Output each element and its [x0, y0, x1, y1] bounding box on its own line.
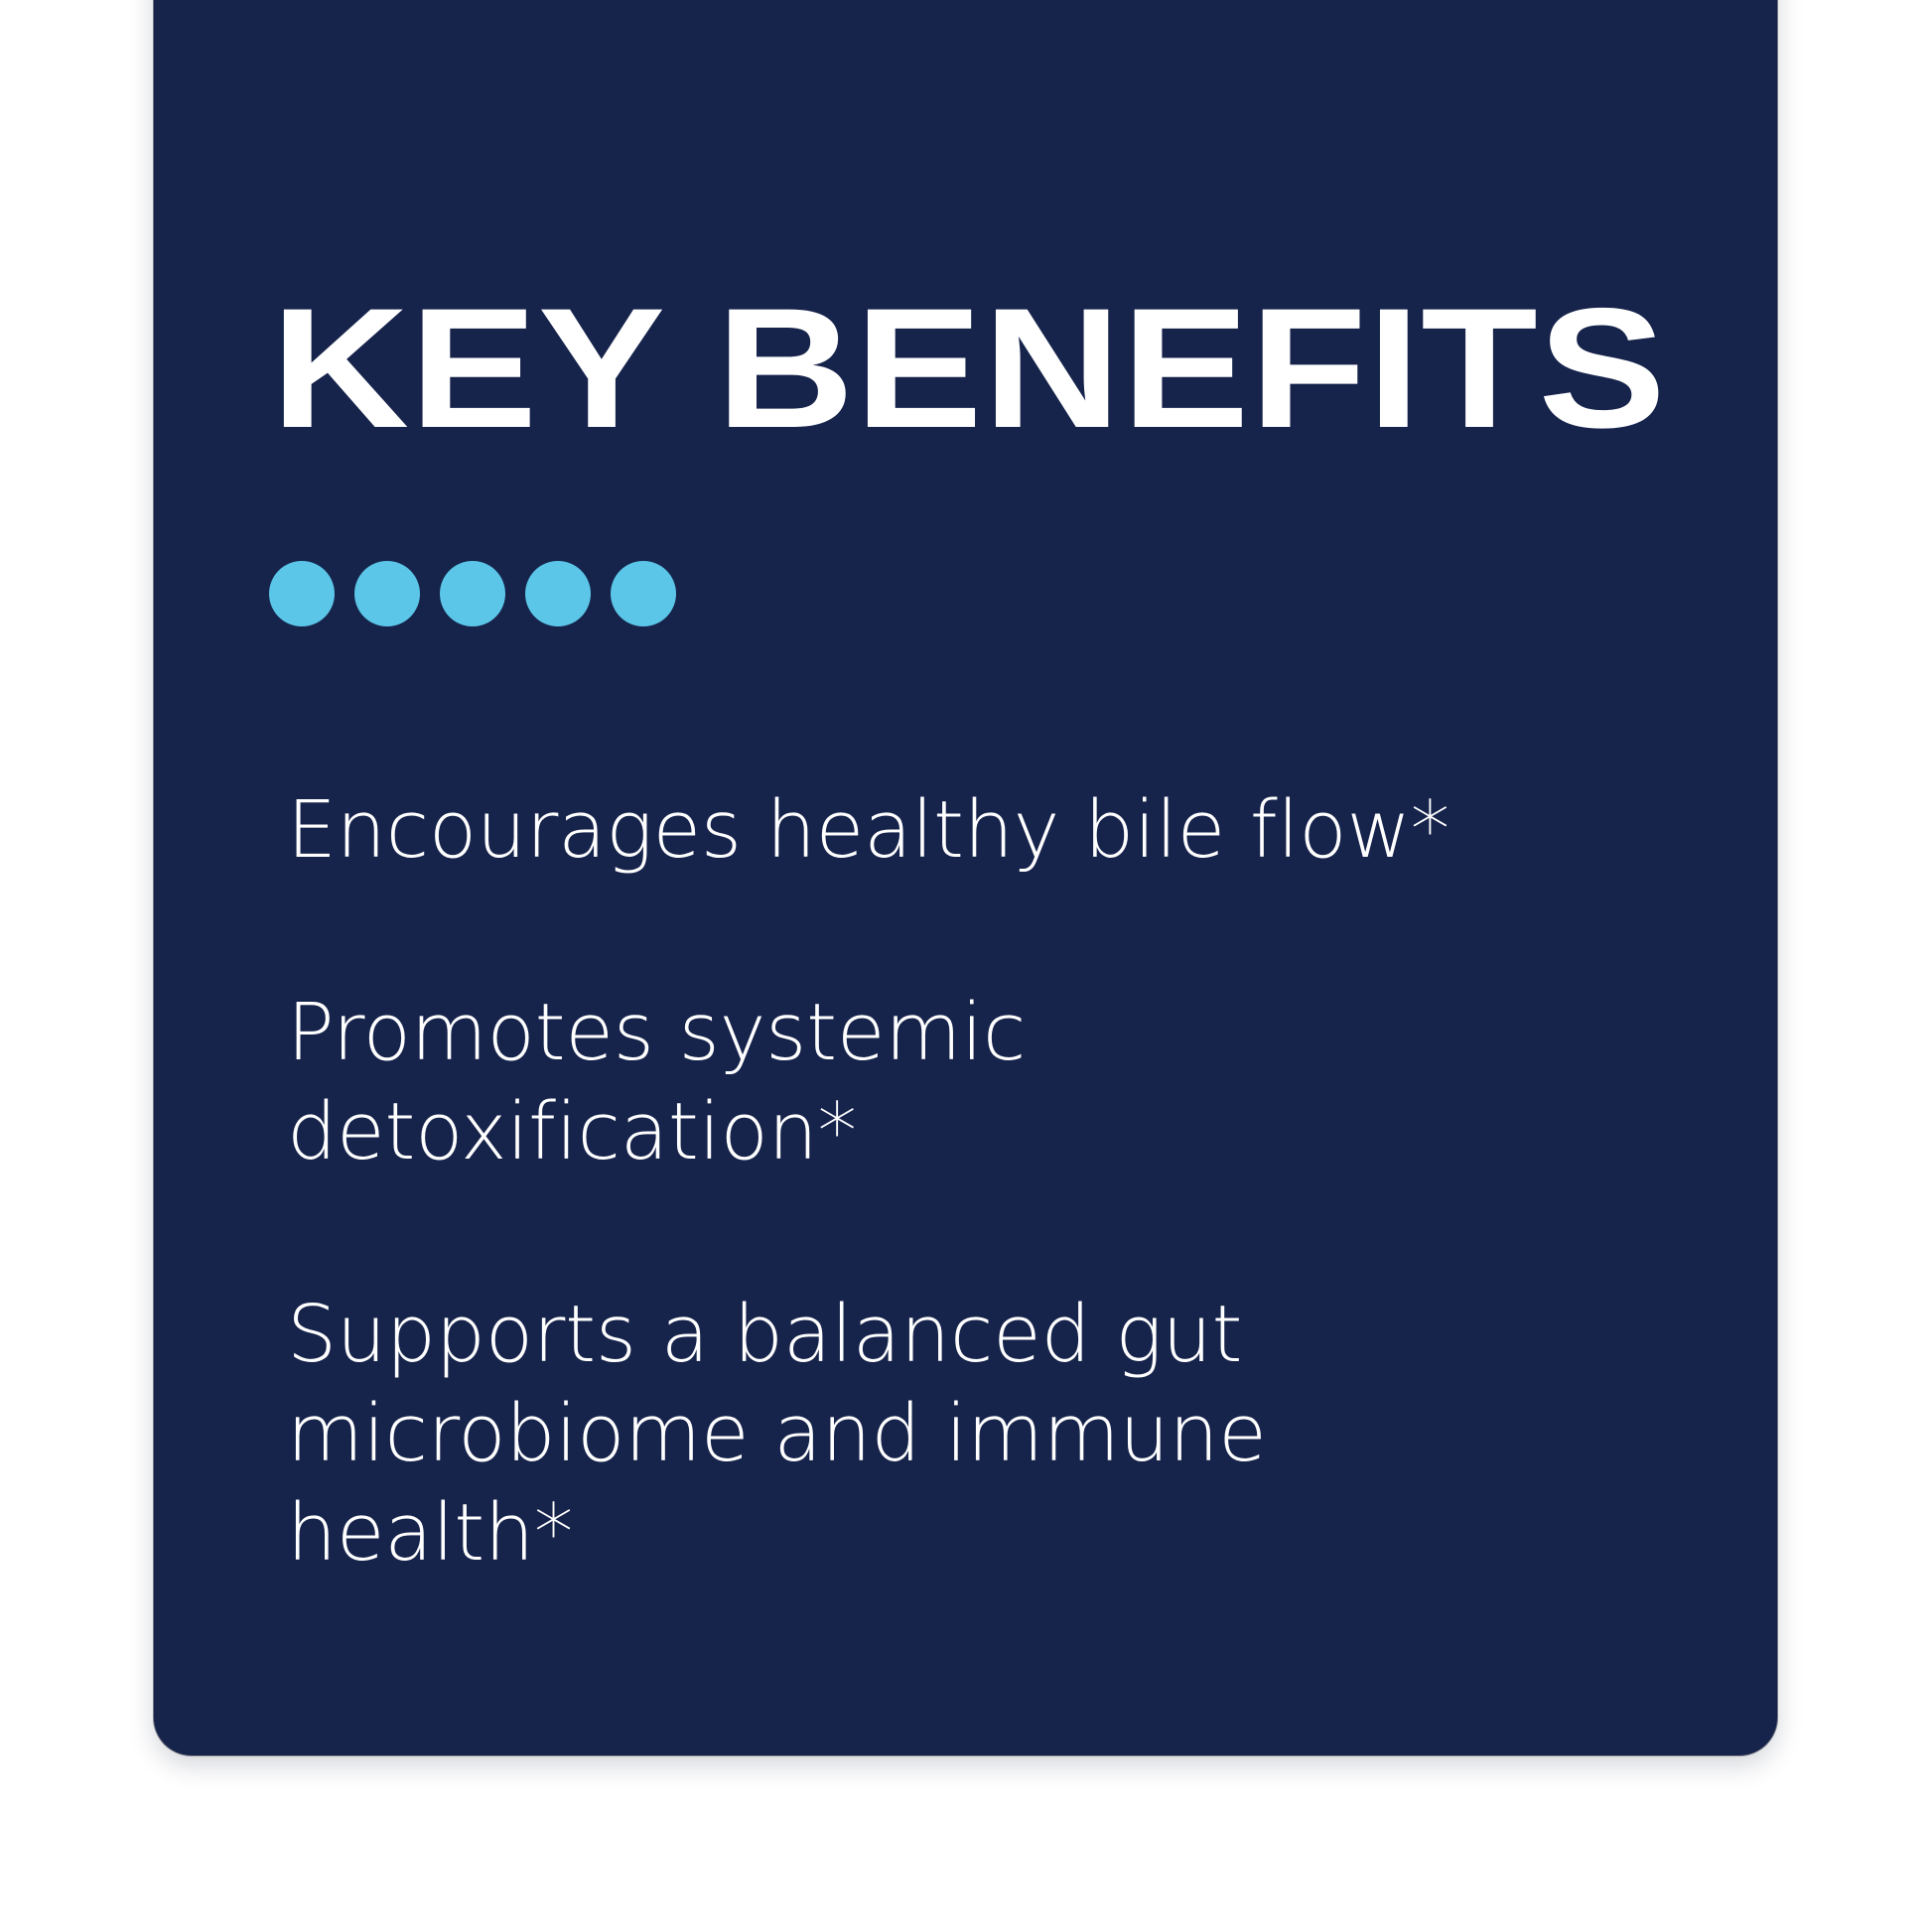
divider-dot-3 [440, 561, 505, 626]
page-title: KEY BENEFITS [271, 283, 1666, 454]
divider-dot-2 [354, 561, 420, 626]
divider-dot-4 [525, 561, 591, 626]
dot-row-divider [269, 561, 676, 626]
benefit-item-2: Promotes systemic detoxification* [287, 983, 1041, 1181]
key-benefits-card: KEY BENEFITS Encourages healthy bile flo… [154, 0, 1777, 1755]
divider-dot-1 [269, 561, 335, 626]
benefits-list: Encourages healthy bile flow* Promotes s… [287, 780, 1677, 1583]
page-canvas: KEY BENEFITS Encourages healthy bile flo… [0, 0, 1932, 1932]
benefit-item-1: Encourages healthy bile flow* [287, 780, 1617, 880]
divider-dot-5 [611, 561, 676, 626]
benefit-item-3: Supports a balanced gut microbiome and i… [287, 1285, 1290, 1583]
